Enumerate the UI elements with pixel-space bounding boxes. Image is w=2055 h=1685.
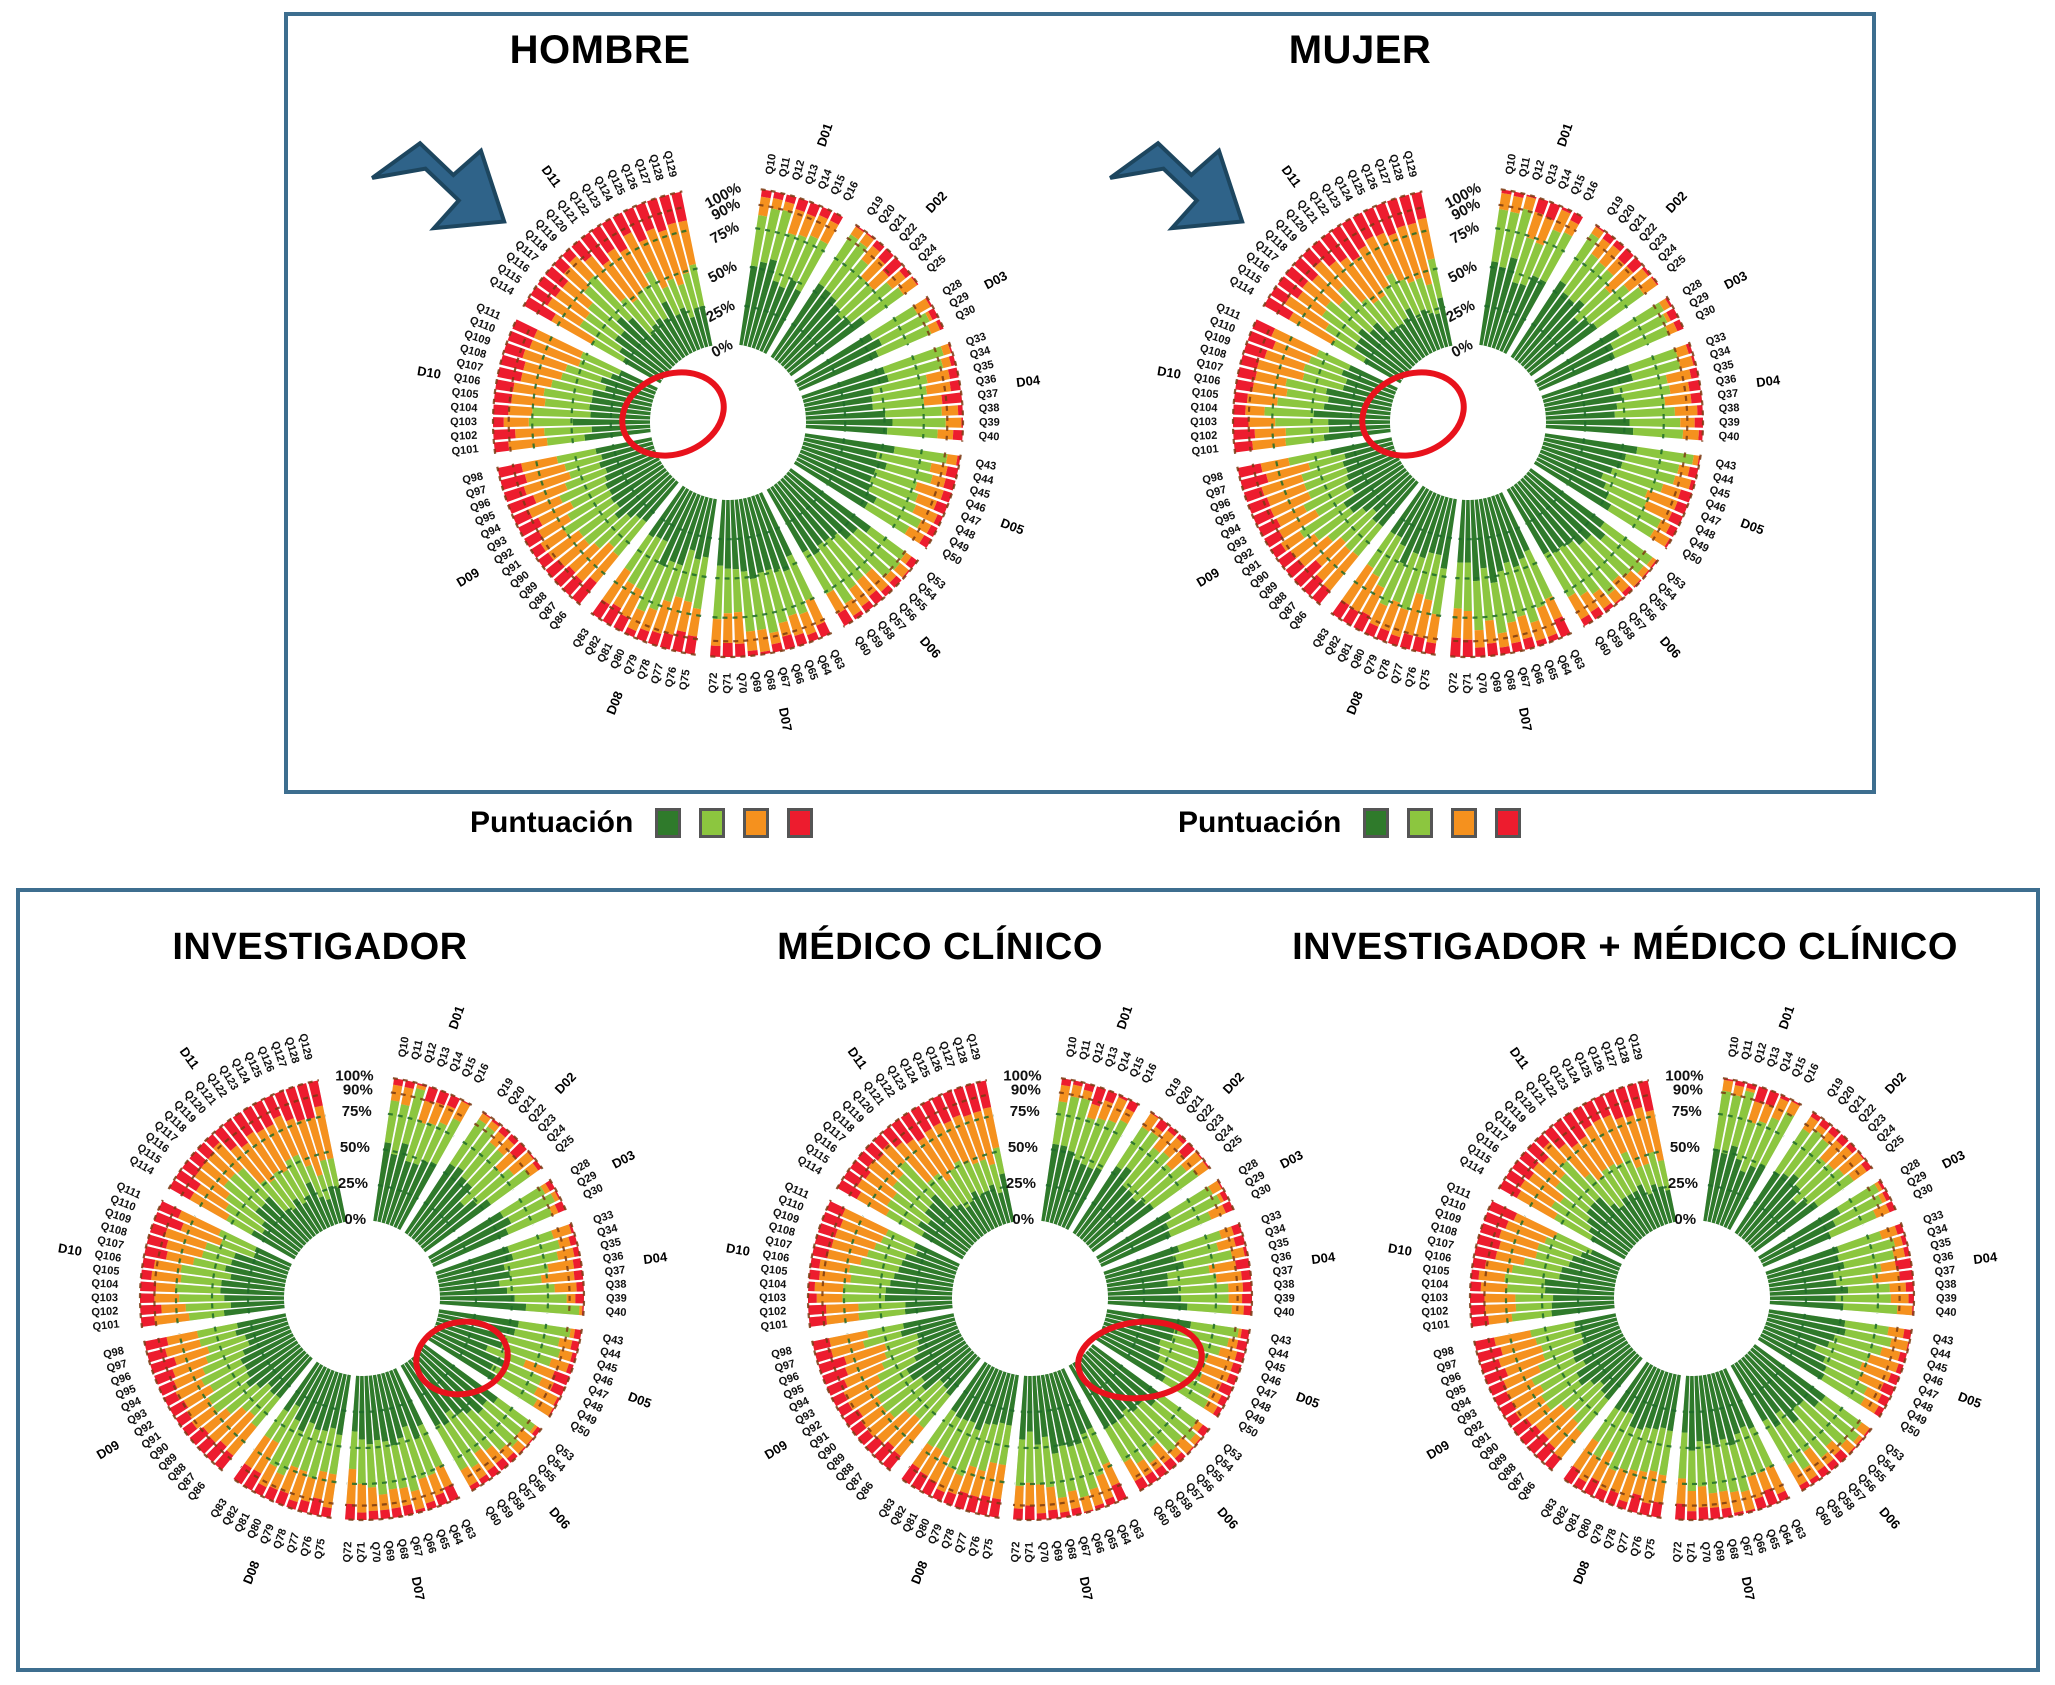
- radial-axis-tick: 100%: [1665, 1067, 1703, 1084]
- bar-segment: [1425, 642, 1437, 655]
- bar-segment: [1507, 1284, 1545, 1293]
- question-label: Q103: [1190, 416, 1217, 428]
- bar-segment: [1669, 382, 1690, 394]
- dimension-label: D04: [1015, 372, 1041, 390]
- bar-segment: [367, 1444, 377, 1488]
- question-label: Q39: [979, 417, 1000, 429]
- radial-axis-tick: 0%: [344, 1211, 366, 1228]
- bar-segment: [887, 428, 938, 439]
- bar-segment: [817, 1294, 843, 1303]
- bar-segment: [1451, 608, 1461, 638]
- legend-swatch-red: [787, 808, 813, 838]
- question-label: Q76: [1403, 666, 1419, 689]
- bar-segment: [769, 631, 781, 644]
- dimension-label: D10: [1387, 1240, 1413, 1259]
- question-label: Q104: [450, 401, 478, 414]
- bar-segment: [1899, 1270, 1913, 1281]
- bar-segment: [930, 463, 948, 476]
- legend-swatch-light-green: [1407, 808, 1433, 838]
- question-label: Q67: [1516, 666, 1532, 689]
- question-label: Q106: [453, 372, 481, 388]
- question-label: Q72: [707, 672, 720, 693]
- bar-segment: [379, 1494, 389, 1510]
- question-label: Q70: [1475, 672, 1488, 693]
- bar-segment: [1546, 425, 1634, 435]
- bar-segment: [140, 1293, 154, 1303]
- question-label: Q72: [1009, 1541, 1022, 1562]
- question-label: Q101: [92, 1318, 120, 1333]
- bar-segment: [946, 454, 958, 465]
- dimension-label: D05: [1739, 515, 1767, 537]
- bar-segment: [1027, 1376, 1033, 1432]
- bar-segment: [1233, 429, 1255, 440]
- bar-segment: [1019, 1376, 1027, 1440]
- bar-segment: [399, 1487, 411, 1506]
- bar-segment: [567, 1294, 576, 1303]
- bar-segment: [179, 1294, 224, 1302]
- bar-segment: [1510, 196, 1523, 214]
- bar-segment: [1485, 1304, 1516, 1314]
- bar-segment: [713, 565, 723, 619]
- question-label: Q70: [1037, 1541, 1050, 1562]
- dimension-label: D04: [1310, 1249, 1336, 1267]
- bar-segment: [358, 1439, 366, 1484]
- bar-segment: [579, 1306, 582, 1316]
- legend-swatch-light-green: [699, 808, 725, 838]
- bar-segment: [440, 1295, 515, 1302]
- bar-segment: [493, 429, 515, 440]
- question-label: Q40: [978, 430, 999, 443]
- question-label: Q102: [450, 430, 478, 443]
- question-label: Q69: [1050, 1540, 1064, 1562]
- radial-axis-tick: 50%: [705, 258, 739, 287]
- dimension-label: D07: [1739, 1575, 1758, 1601]
- bar-segment: [508, 406, 532, 416]
- question-label: Q71: [722, 673, 734, 694]
- radial-axis-tick: 0%: [1449, 336, 1476, 361]
- question-label: Q68: [762, 669, 777, 691]
- radial-axis-tick: 100%: [335, 1067, 373, 1084]
- radial-axis-tick: 0%: [709, 336, 736, 361]
- question-label: Q37: [1934, 1264, 1956, 1278]
- circular-chart-ambos: Q10Q11Q12Q13Q14Q15Q16D01Q19Q20Q21Q22Q23Q…: [1372, 978, 2012, 1638]
- bar-segment: [1676, 1478, 1686, 1504]
- bar-segment: [1216, 1271, 1242, 1282]
- bar-segment: [1523, 196, 1536, 211]
- bar-segment: [926, 382, 951, 395]
- bar-segment: [440, 1301, 526, 1311]
- legend-label: Puntuación: [470, 806, 633, 840]
- question-label: Q105: [92, 1263, 120, 1278]
- dimension-label: D09: [762, 1437, 790, 1462]
- question-label: Q43: [975, 458, 997, 473]
- bar-segment: [547, 1260, 574, 1273]
- bar-segment: [757, 629, 770, 652]
- bar-segment: [1178, 1284, 1229, 1294]
- radial-axis-tick: 75%: [1010, 1103, 1040, 1120]
- bar-segment: [953, 430, 963, 440]
- question-label: Q105: [1422, 1263, 1450, 1278]
- bar-segment: [1229, 1294, 1243, 1303]
- bar-segment: [1722, 1080, 1733, 1092]
- question-label: Q71: [1024, 1542, 1036, 1563]
- dimension-label: D10: [416, 363, 442, 382]
- dimension-label: D10: [57, 1240, 83, 1259]
- question-label: Q37: [604, 1264, 626, 1278]
- dimension-label: D02: [923, 188, 950, 216]
- legend-swatch-orange: [1451, 808, 1477, 838]
- bar-segment: [161, 1304, 186, 1313]
- bar-segment: [1463, 611, 1472, 640]
- bar-segment: [1889, 1282, 1906, 1292]
- dimension-label: D11: [539, 163, 565, 191]
- radial-axis-tick: 50%: [1008, 1139, 1038, 1156]
- question-label: Q75: [1643, 1538, 1658, 1560]
- bar-segment: [1068, 1490, 1080, 1509]
- bar-segment: [1474, 1338, 1496, 1351]
- radial-axis-tick: 75%: [342, 1103, 372, 1120]
- bar-segment: [1286, 427, 1329, 436]
- bar-segment: [175, 1284, 220, 1293]
- bar-segment: [1470, 1293, 1485, 1303]
- question-label: Q38: [1273, 1278, 1294, 1291]
- question-label: Q104: [1421, 1278, 1449, 1291]
- question-label: Q70: [369, 1541, 382, 1562]
- question-label: Q39: [606, 1293, 627, 1305]
- bar-segment: [515, 428, 544, 438]
- bar-segment: [1235, 1258, 1250, 1269]
- question-label: Q102: [1421, 1305, 1449, 1318]
- bar-segment: [941, 405, 958, 415]
- bar-segment: [529, 418, 573, 427]
- question-label: Q69: [1712, 1540, 1726, 1562]
- dimension-label: D08: [908, 1559, 931, 1587]
- bar-segment: [923, 395, 942, 406]
- radial-axis-tick: 0%: [1674, 1211, 1696, 1228]
- question-label: Q72: [1447, 672, 1460, 693]
- bar-segment: [1013, 1508, 1023, 1520]
- bar-segment: [508, 438, 547, 451]
- bar-segment: [1470, 1305, 1485, 1315]
- dimension-label: D05: [1294, 1389, 1322, 1411]
- dimension-label: D07: [776, 706, 795, 732]
- question-label: Q38: [605, 1278, 626, 1291]
- bar-segment: [724, 569, 732, 614]
- question-label: Q35: [972, 359, 995, 375]
- dimension-label: D02: [1663, 188, 1690, 216]
- bar-segment: [349, 1431, 358, 1469]
- circular-chart-investigador: Q10Q11Q12Q13Q14Q15Q16D01Q19Q20Q21Q22Q23Q…: [42, 978, 682, 1638]
- bar-segment: [1046, 1487, 1057, 1511]
- bar-segment: [156, 1283, 176, 1292]
- bar-segment: [1025, 1483, 1034, 1506]
- bar-segment: [1835, 1294, 1890, 1303]
- question-label: Q39: [1719, 417, 1740, 429]
- radial-axis-tick: 50%: [1445, 258, 1479, 287]
- dimension-label: D03: [1277, 1147, 1305, 1171]
- dimension-label: D03: [1722, 268, 1750, 292]
- bar-segment: [189, 1310, 225, 1321]
- bar-segment: [941, 392, 962, 404]
- dimension-label: D01: [1554, 121, 1576, 148]
- dimension-label: D07: [409, 1575, 428, 1601]
- question-label: Q75: [1417, 669, 1432, 691]
- dimension-label: D08: [1343, 689, 1366, 717]
- question-label: Q72: [1671, 1541, 1684, 1562]
- bar-segment: [1025, 1506, 1035, 1520]
- bar-segment: [1498, 632, 1510, 648]
- question-label: Q101: [1422, 1318, 1450, 1333]
- dimension-label: D02: [1882, 1069, 1909, 1097]
- dimension-label: D06: [546, 1504, 573, 1532]
- dimension-label: D11: [1279, 163, 1305, 191]
- radial-axis-tick: 0%: [1012, 1211, 1034, 1228]
- bar-segment: [554, 1282, 576, 1292]
- radial-axis-tick: 25%: [1668, 1175, 1698, 1192]
- bar-segment: [1242, 1294, 1252, 1304]
- bar-segment: [1454, 562, 1464, 608]
- dimension-label: D07: [1516, 706, 1535, 732]
- bar-segment: [1499, 193, 1511, 211]
- bar-segment: [154, 1313, 189, 1325]
- dimension-label: D01: [1775, 1004, 1797, 1031]
- dimension-label: D04: [1755, 372, 1781, 390]
- bar-segment: [1629, 418, 1680, 427]
- bar-segment: [369, 1511, 379, 1520]
- question-label: Q67: [776, 666, 792, 689]
- dimension-label: D11: [1507, 1044, 1533, 1072]
- bar-segment: [547, 435, 585, 446]
- dimension-label: D11: [845, 1044, 871, 1072]
- question-label: Q102: [91, 1305, 119, 1318]
- bar-segment: [717, 500, 725, 566]
- bar-segment: [1026, 1432, 1034, 1483]
- bar-segment: [1275, 418, 1328, 426]
- bar-segment: [735, 643, 746, 656]
- bar-segment: [515, 1294, 567, 1303]
- bar-segment: [1719, 1490, 1730, 1509]
- chart-title-mujer: MUJER: [1160, 28, 1560, 73]
- bar-segment: [1664, 394, 1691, 406]
- bar-segment: [723, 643, 733, 657]
- legend-swatch-red: [1495, 808, 1521, 838]
- bar-segment: [1478, 1271, 1505, 1282]
- bar-segment: [1058, 1497, 1069, 1513]
- radial-axis-tick: 75%: [707, 219, 741, 248]
- bar-segment: [142, 1258, 155, 1269]
- dimension-label: D03: [982, 268, 1010, 292]
- bar-segment: [1687, 1491, 1696, 1511]
- question-label: Q40: [1935, 1306, 1956, 1319]
- question-label: Q101: [760, 1318, 788, 1333]
- bar-segment: [725, 500, 731, 569]
- bar-segment: [224, 1295, 284, 1301]
- question-label: Q68: [1063, 1538, 1078, 1560]
- legend-hombre: Puntuación: [470, 806, 813, 840]
- bar-segment: [815, 1282, 844, 1292]
- question-label: Q106: [94, 1249, 122, 1265]
- bar-segment: [1770, 1295, 1836, 1301]
- radial-axis-tick: 25%: [1006, 1175, 1036, 1192]
- bar-segment: [1252, 438, 1286, 450]
- question-label: Q104: [759, 1278, 787, 1291]
- question-label: Q106: [1424, 1249, 1452, 1265]
- question-label: Q68: [1502, 669, 1517, 691]
- bar-segment: [1108, 1301, 1188, 1311]
- dimension-label: D07: [1077, 1575, 1096, 1601]
- bar-segment: [826, 1313, 859, 1325]
- dimension-label: D06: [1876, 1504, 1903, 1532]
- radial-axis-tick: 100%: [1003, 1067, 1041, 1084]
- question-label: Q106: [1193, 372, 1221, 388]
- question-label: Q70: [735, 672, 748, 693]
- question-label: Q40: [1273, 1306, 1294, 1319]
- bar-segment: [842, 1294, 885, 1302]
- bar-segment: [1673, 476, 1692, 490]
- radial-axis-tick: 50%: [1670, 1139, 1700, 1156]
- dimension-label: D09: [1194, 565, 1222, 590]
- bar-segment: [1507, 621, 1521, 643]
- bar-segment: [1689, 1376, 1696, 1451]
- bar-segment: [1474, 1246, 1497, 1259]
- legend-mujer: Puntuación: [1178, 806, 1521, 840]
- legend-swatch-dark-green: [655, 808, 681, 838]
- bar-segment: [504, 417, 529, 427]
- dimension-label: D06: [917, 633, 944, 661]
- question-label: Q105: [760, 1263, 788, 1278]
- question-label: Q102: [1190, 430, 1218, 443]
- dimension-label: D01: [814, 121, 836, 148]
- bar-segment: [1285, 435, 1324, 446]
- question-label: Q101: [451, 443, 479, 458]
- question-label: Q35: [1712, 359, 1735, 375]
- bar-segment: [1546, 419, 1630, 426]
- question-label: Q37: [977, 387, 999, 401]
- bar-segment: [1687, 1511, 1697, 1520]
- radial-axis-tick: 75%: [1447, 219, 1481, 248]
- question-label: Q101: [1191, 443, 1219, 458]
- bar-segment: [346, 1469, 356, 1504]
- bar-segment: [1228, 1283, 1243, 1293]
- bar-segment: [1475, 630, 1485, 648]
- bar-segment: [1848, 1284, 1890, 1294]
- dimension-label: D06: [1657, 633, 1684, 661]
- bar-segment: [575, 1294, 584, 1304]
- question-label: Q75: [677, 669, 692, 691]
- bar-segment: [140, 1305, 162, 1315]
- bar-segment: [1487, 643, 1498, 656]
- question-label: Q40: [1718, 430, 1739, 443]
- question-label: Q38: [1718, 402, 1739, 415]
- question-label: Q103: [759, 1292, 786, 1304]
- bar-segment: [1695, 418, 1703, 428]
- bar-segment: [1187, 1304, 1232, 1314]
- dimension-label: D09: [1424, 1437, 1452, 1462]
- dimension-label: D10: [725, 1240, 751, 1259]
- legend-swatch-dark-green: [1363, 808, 1389, 838]
- dimension-label: D03: [1939, 1147, 1967, 1171]
- bar-segment: [808, 1293, 817, 1303]
- dimension-label: D03: [609, 1147, 637, 1171]
- question-label: Q37: [1272, 1264, 1294, 1278]
- dimension-label: D05: [999, 515, 1027, 537]
- bar-segment: [140, 1281, 156, 1291]
- bar-segment: [1678, 1432, 1687, 1478]
- bar-segment: [1843, 1303, 1897, 1314]
- chart-title-hombre: HOMBRE: [400, 28, 800, 73]
- question-label: Q39: [1274, 1293, 1295, 1305]
- dimension-label: D01: [445, 1004, 467, 1031]
- dimension-label: D10: [1156, 363, 1182, 382]
- question-label: Q105: [451, 386, 479, 401]
- question-label: Q102: [759, 1305, 787, 1318]
- question-label: Q38: [978, 402, 999, 415]
- bar-segment: [1699, 1507, 1709, 1520]
- question-label: Q104: [1190, 401, 1218, 414]
- question-label: Q68: [1725, 1538, 1740, 1560]
- bar-segment: [733, 569, 743, 612]
- question-label: Q36: [1715, 373, 1737, 388]
- dimension-label: D02: [552, 1069, 579, 1097]
- bar-segment: [1233, 417, 1249, 427]
- dimension-label: D01: [1113, 1004, 1135, 1031]
- legend-swatches: [1363, 808, 1521, 838]
- question-label: Q39: [1936, 1293, 1957, 1305]
- legend-swatches: [655, 808, 813, 838]
- dimension-label: D08: [240, 1559, 263, 1587]
- bar-segment: [1465, 500, 1471, 563]
- bar-segment: [493, 417, 504, 427]
- bar-segment: [1255, 428, 1286, 438]
- radial-axis-tick: 25%: [1443, 297, 1477, 326]
- question-label: Q38: [1935, 1278, 1956, 1291]
- radial-axis-tick: 50%: [340, 1139, 370, 1156]
- question-label: Q71: [1686, 1542, 1698, 1563]
- bar-segment: [1470, 1281, 1481, 1291]
- question-label: Q71: [356, 1542, 368, 1563]
- bar-segment: [1880, 1261, 1896, 1272]
- bar-segment: [885, 1295, 952, 1301]
- bar-segment: [1903, 1329, 1912, 1339]
- bar-segment: [1682, 1376, 1690, 1433]
- bar-segment: [1512, 1310, 1552, 1321]
- bar-segment: [493, 405, 509, 416]
- bar-segment: [494, 441, 509, 452]
- bar-segment: [141, 1270, 152, 1280]
- question-label: Q69: [749, 671, 763, 693]
- chart-title-ambos: INVESTIGADOR + MÉDICO CLÍNICO: [1230, 926, 2020, 969]
- bar-segment: [1473, 581, 1484, 631]
- bar-segment: [1234, 392, 1248, 403]
- bar-segment: [1553, 1295, 1614, 1301]
- bar-segment: [389, 1488, 401, 1509]
- bar-segment: [1709, 1493, 1719, 1508]
- bar-segment: [1328, 419, 1390, 425]
- circular-chart-medico: Q10Q11Q12Q13Q14Q15Q16D01Q19Q20Q21Q22Q23Q…: [710, 978, 1350, 1638]
- bar-segment: [1683, 430, 1699, 441]
- bar-segment: [1181, 1294, 1229, 1303]
- question-label: Q71: [1462, 673, 1474, 694]
- question-label: Q69: [382, 1540, 396, 1562]
- bar-segment: [1484, 1294, 1515, 1303]
- bar-segment: [141, 1316, 155, 1327]
- bar-segment: [710, 645, 720, 656]
- dimension-label: D08: [603, 689, 626, 717]
- bar-segment: [526, 1304, 580, 1315]
- legend-swatch-orange: [743, 808, 769, 838]
- radial-axis-tick: 25%: [703, 297, 737, 326]
- bar-segment: [1488, 1314, 1512, 1325]
